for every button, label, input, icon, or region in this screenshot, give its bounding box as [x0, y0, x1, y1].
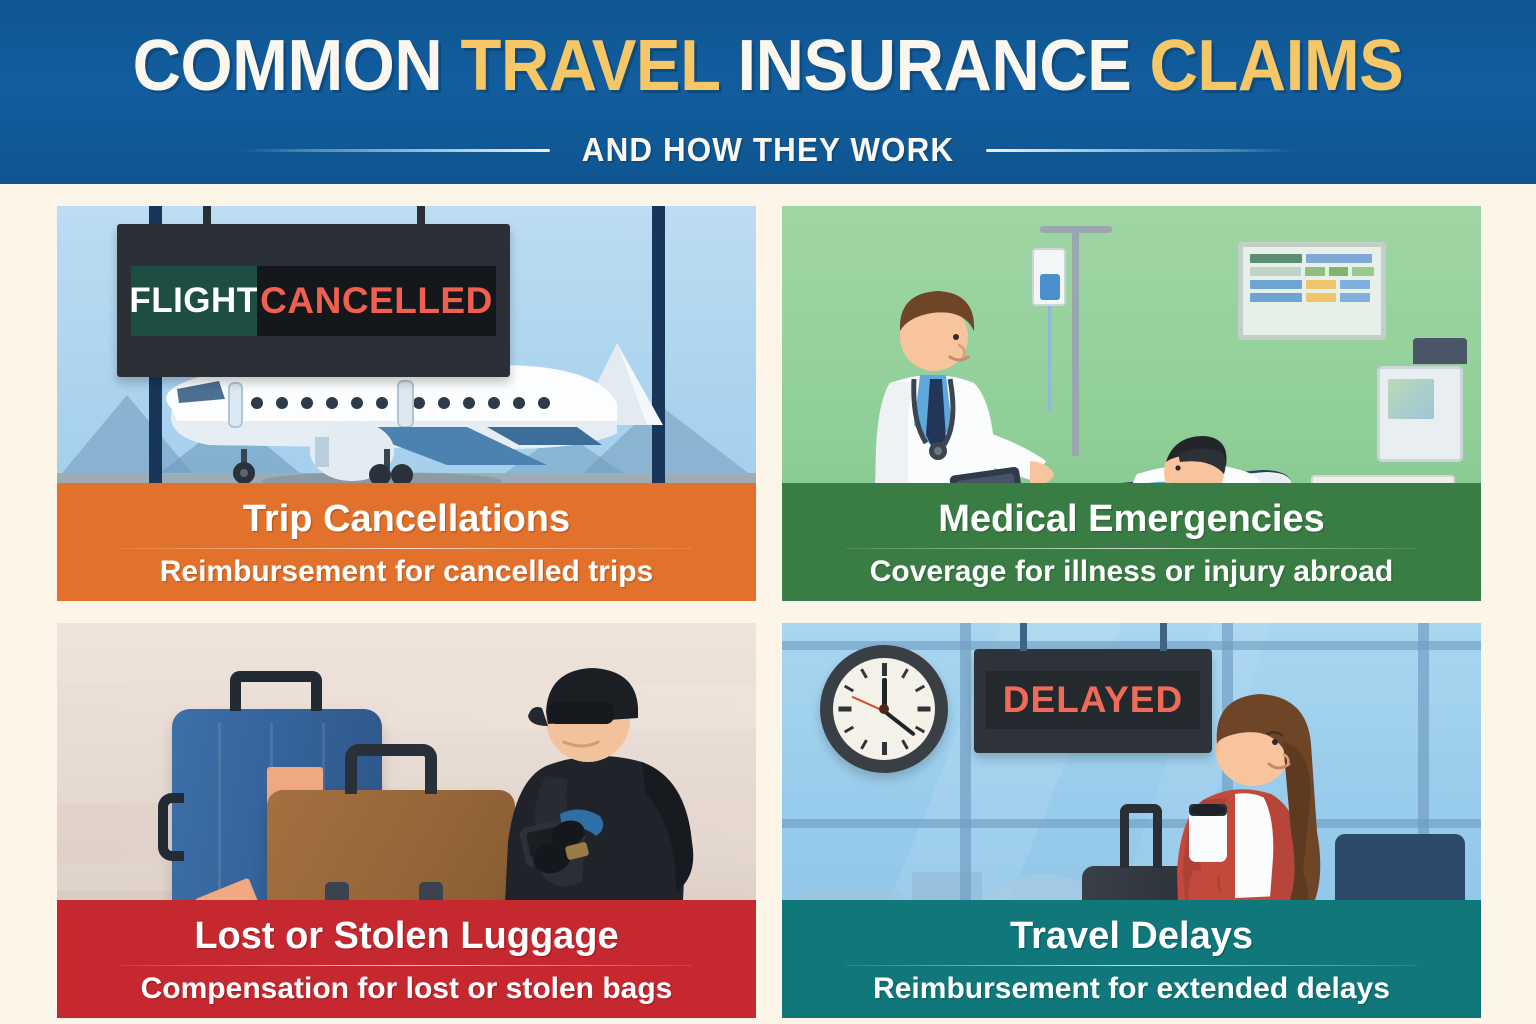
chart-block: [1352, 267, 1374, 276]
sign-hanger-left: [1020, 623, 1027, 651]
chart-block: [1250, 293, 1302, 302]
chart-block: [1306, 254, 1372, 263]
clock-tick: [901, 739, 909, 749]
sign-status-text: DELAYED: [1003, 679, 1183, 721]
caption-medical-emergencies: Medical Emergencies Coverage for illness…: [782, 483, 1481, 601]
delayed-sign: DELAYED: [974, 649, 1212, 753]
board-hanger-right: [417, 206, 425, 226]
card-subtitle: Reimbursement for extended delays: [873, 972, 1390, 1006]
suitcase-handle: [230, 671, 322, 711]
clock-tick: [838, 707, 851, 712]
board-status-text: CANCELLED: [260, 280, 493, 322]
clock-tick: [882, 663, 887, 676]
card-travel-delays[interactable]: DELAYED: [782, 623, 1481, 1018]
page-title: COMMON TRAVEL INSURANCE CLAIMS: [54, 23, 1482, 109]
card-lost-or-stolen-luggage[interactable]: Lost or Stolen Luggage Compensation for …: [57, 623, 756, 1018]
header-banner: COMMON TRAVEL INSURANCE CLAIMS AND HOW T…: [0, 0, 1536, 184]
chart-block: [1340, 293, 1370, 302]
card-subtitle: Coverage for illness or injury abroad: [870, 555, 1393, 589]
caption-divider: [121, 548, 691, 550]
clock-center-cap: [879, 704, 889, 714]
title-part-1: COMMON: [133, 26, 461, 106]
chart-block: [1250, 254, 1302, 263]
chart-block: [1250, 267, 1301, 276]
chart-block: [1306, 293, 1336, 302]
monitor-head: [1413, 338, 1467, 364]
card-title: Trip Cancellations: [243, 497, 570, 541]
clock-tick: [843, 685, 853, 693]
clock-tick: [860, 668, 868, 678]
card-title: Travel Delays: [1010, 914, 1253, 958]
clock-minute-hand: [883, 709, 916, 736]
subtitle-row: AND HOW THEY WORK: [0, 124, 1536, 176]
board-status-panel: CANCELLED: [257, 266, 496, 336]
subtitle-rule-right: [986, 149, 1296, 152]
chart-row: [1250, 267, 1374, 276]
vital-signs-monitor: [1377, 366, 1463, 462]
chart-block: [1340, 280, 1370, 289]
clock-tick: [860, 739, 868, 749]
card-subtitle: Compensation for lost or stolen bags: [141, 972, 673, 1006]
clock-tick: [914, 685, 924, 693]
departure-board-screen: FLIGHT CANCELLED: [131, 266, 496, 336]
caption-travel-delays: Travel Delays Reimbursement for extended…: [782, 900, 1481, 1018]
caption-divider: [121, 965, 691, 967]
clock-face: [833, 658, 935, 760]
chart-row: [1250, 254, 1374, 263]
clock-tick: [882, 742, 887, 755]
board-flight-panel: FLIGHT: [131, 266, 257, 336]
chart-block: [1305, 267, 1325, 276]
card-trip-cancellations[interactable]: FLIGHT CANCELLED Trip Cancellations Reim…: [57, 206, 756, 601]
wall-clock: [820, 645, 948, 773]
wall-chart: [1238, 242, 1386, 340]
sign-screen: DELAYED: [986, 671, 1200, 729]
subtitle-rule-left: [240, 149, 550, 152]
page-subtitle: AND HOW THEY WORK: [582, 131, 954, 169]
caption-divider: [846, 548, 1416, 550]
title-part-4: CLAIMS: [1149, 26, 1403, 106]
card-title: Medical Emergencies: [938, 497, 1325, 541]
card-medical-emergencies[interactable]: Medical Emergencies Coverage for illness…: [782, 206, 1481, 601]
title-part-2: TRAVEL: [460, 26, 737, 106]
chart-row: [1250, 280, 1374, 289]
card-title: Lost or Stolen Luggage: [194, 914, 618, 958]
title-part-3: INSURANCE: [737, 26, 1149, 106]
chart-row: [1250, 293, 1374, 302]
chart-block: [1250, 280, 1302, 289]
clock-tick: [843, 726, 853, 734]
card-subtitle: Reimbursement for cancelled trips: [160, 555, 653, 589]
chart-block: [1306, 280, 1336, 289]
caption-lost-or-stolen-luggage: Lost or Stolen Luggage Compensation for …: [57, 900, 756, 1018]
sign-hanger-right: [1160, 623, 1167, 651]
duffel-handle: [345, 744, 437, 794]
caption-trip-cancellations: Trip Cancellations Reimbursement for can…: [57, 483, 756, 601]
departure-board: FLIGHT CANCELLED: [117, 224, 510, 377]
chart-block: [1329, 267, 1349, 276]
monitor-screen: [1388, 379, 1434, 419]
board-flight-label: FLIGHT: [129, 281, 258, 321]
claims-grid: FLIGHT CANCELLED Trip Cancellations Reim…: [57, 206, 1481, 1001]
caption-divider: [846, 965, 1416, 967]
board-hanger-left: [203, 206, 211, 226]
clock-tick: [901, 668, 909, 678]
clock-tick: [914, 726, 924, 734]
clock-tick: [917, 707, 930, 712]
suitcase-side-handle: [158, 793, 184, 861]
